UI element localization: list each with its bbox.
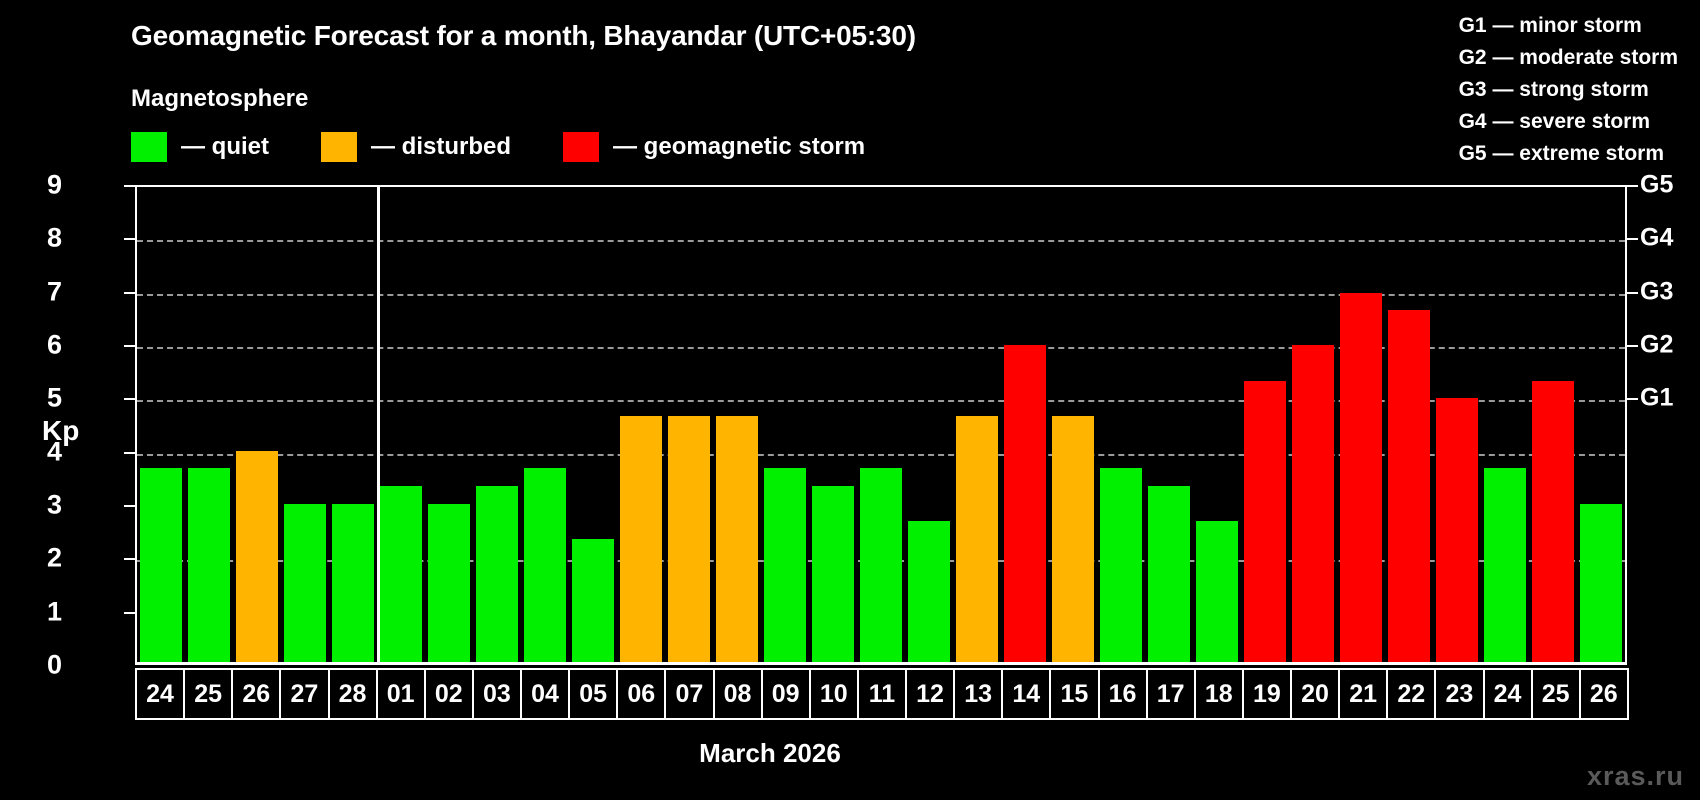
y-tick-label-2: 2 xyxy=(2,543,62,574)
bar-13-disturbed[interactable] xyxy=(956,416,997,662)
bar-15-disturbed[interactable] xyxy=(1052,416,1093,662)
bar-cell[interactable] xyxy=(1241,187,1289,662)
y-tick-mark-3 xyxy=(124,505,135,507)
bar-cell[interactable] xyxy=(377,187,425,662)
day-label-5: 01 xyxy=(376,668,426,720)
y-tick-label-3: 3 xyxy=(2,490,62,521)
chart-plot xyxy=(135,185,1627,665)
bar-26-quiet[interactable] xyxy=(1580,504,1621,662)
bar-cell[interactable] xyxy=(1097,187,1145,662)
day-label-24: 20 xyxy=(1290,668,1340,720)
day-label-12: 08 xyxy=(713,668,763,720)
bar-09-quiet[interactable] xyxy=(764,468,805,662)
y-tick-mark-7 xyxy=(124,292,135,294)
day-label-26: 22 xyxy=(1386,668,1436,720)
bar-25-geomagnetic-storm[interactable] xyxy=(1532,381,1573,662)
bar-08-disturbed[interactable] xyxy=(716,416,757,662)
g-tick-mark-g5 xyxy=(1627,185,1638,187)
bar-19-geomagnetic-storm[interactable] xyxy=(1244,381,1285,662)
bar-cell[interactable] xyxy=(1337,187,1385,662)
bar-cell[interactable] xyxy=(233,187,281,662)
forecast-divider xyxy=(377,187,380,662)
y-tick-mark-5 xyxy=(124,398,135,400)
bar-cell[interactable] xyxy=(953,187,1001,662)
g-tick-label-g4: G4 xyxy=(1640,224,1673,253)
bar-18-quiet[interactable] xyxy=(1196,521,1237,662)
day-label-6: 02 xyxy=(424,668,474,720)
bar-05-quiet[interactable] xyxy=(572,539,613,662)
bar-cell[interactable] xyxy=(137,187,185,662)
y-tick-mark-1 xyxy=(124,612,135,614)
day-label-4: 28 xyxy=(328,668,378,720)
day-label-15: 11 xyxy=(857,668,907,720)
bar-cell[interactable] xyxy=(1049,187,1097,662)
bar-16-quiet[interactable] xyxy=(1100,468,1141,662)
day-label-11: 07 xyxy=(664,668,714,720)
day-label-30: 26 xyxy=(1579,668,1629,720)
day-label-3: 27 xyxy=(279,668,329,720)
bar-23-geomagnetic-storm[interactable] xyxy=(1436,398,1477,662)
bar-cell[interactable] xyxy=(185,187,233,662)
y-tick-label-8: 8 xyxy=(2,223,62,254)
x-axis-day-labels: 2425262728010203040506070809101112131415… xyxy=(135,668,1627,720)
bar-02-quiet[interactable] xyxy=(428,504,469,662)
day-label-2: 26 xyxy=(231,668,281,720)
y-tick-label-6: 6 xyxy=(2,330,62,361)
bar-cell[interactable] xyxy=(1193,187,1241,662)
bar-01-quiet[interactable] xyxy=(380,486,421,662)
bar-cell[interactable] xyxy=(1481,187,1529,662)
day-label-20: 16 xyxy=(1098,668,1148,720)
day-label-28: 24 xyxy=(1483,668,1533,720)
y-tick-label-0: 0 xyxy=(2,650,62,681)
day-label-14: 10 xyxy=(809,668,859,720)
bar-10-quiet[interactable] xyxy=(812,486,853,662)
day-label-29: 25 xyxy=(1531,668,1581,720)
day-label-25: 21 xyxy=(1338,668,1388,720)
g-tick-label-g5: G5 xyxy=(1640,171,1673,200)
bar-20-geomagnetic-storm[interactable] xyxy=(1292,345,1333,662)
bar-27-quiet[interactable] xyxy=(284,504,325,662)
y-tick-label-5: 5 xyxy=(2,383,62,414)
bar-17-quiet[interactable] xyxy=(1148,486,1189,662)
bar-11-quiet[interactable] xyxy=(860,468,901,662)
bar-cell[interactable] xyxy=(809,187,857,662)
day-label-7: 03 xyxy=(472,668,522,720)
g-tick-label-g3: G3 xyxy=(1640,277,1673,306)
plot-area: Kp 0123456789 G1G2G3G4G5 242526272801020… xyxy=(0,0,1700,800)
bar-cell[interactable] xyxy=(569,187,617,662)
bar-cell[interactable] xyxy=(665,187,713,662)
g-tick-mark-g1 xyxy=(1627,398,1638,400)
y-tick-mark-4 xyxy=(124,452,135,454)
bar-06-disturbed[interactable] xyxy=(620,416,661,662)
day-label-23: 19 xyxy=(1242,668,1292,720)
y-tick-label-1: 1 xyxy=(2,596,62,627)
bar-cell[interactable] xyxy=(905,187,953,662)
bar-cell[interactable] xyxy=(1385,187,1433,662)
bar-cell[interactable] xyxy=(713,187,761,662)
y-tick-mark-2 xyxy=(124,558,135,560)
bar-24-quiet[interactable] xyxy=(140,468,181,662)
bar-25-quiet[interactable] xyxy=(188,468,229,662)
bar-cell[interactable] xyxy=(1433,187,1481,662)
g-tick-label-g2: G2 xyxy=(1640,331,1673,360)
bar-24-quiet[interactable] xyxy=(1484,468,1525,662)
watermark: xras.ru xyxy=(1587,761,1684,792)
day-label-19: 15 xyxy=(1049,668,1099,720)
day-label-18: 14 xyxy=(1001,668,1051,720)
x-axis-title: March 2026 xyxy=(0,738,1700,769)
y-tick-label-7: 7 xyxy=(2,276,62,307)
day-label-9: 05 xyxy=(568,668,618,720)
bar-cell[interactable] xyxy=(1001,187,1049,662)
day-label-16: 12 xyxy=(905,668,955,720)
forecast-chart-page: Geomagnetic Forecast for a month, Bhayan… xyxy=(0,0,1700,800)
g-tick-mark-g3 xyxy=(1627,292,1638,294)
day-label-1: 25 xyxy=(183,668,233,720)
bar-cell[interactable] xyxy=(521,187,569,662)
bar-cell[interactable] xyxy=(1145,187,1193,662)
bar-04-quiet[interactable] xyxy=(524,468,565,662)
bar-cell[interactable] xyxy=(617,187,665,662)
bar-22-geomagnetic-storm[interactable] xyxy=(1388,310,1429,662)
g-tick-label-g1: G1 xyxy=(1640,384,1673,413)
day-label-17: 13 xyxy=(953,668,1003,720)
bar-cell[interactable] xyxy=(281,187,329,662)
y-tick-mark-6 xyxy=(124,345,135,347)
bar-28-quiet[interactable] xyxy=(332,504,373,662)
day-label-0: 24 xyxy=(135,668,185,720)
bar-12-quiet[interactable] xyxy=(908,521,949,662)
bar-cell[interactable] xyxy=(1577,187,1625,662)
bar-cell[interactable] xyxy=(425,187,473,662)
bar-14-geomagnetic-storm[interactable] xyxy=(1004,345,1045,662)
bar-07-disturbed[interactable] xyxy=(668,416,709,662)
day-label-13: 09 xyxy=(761,668,811,720)
bar-cell[interactable] xyxy=(857,187,905,662)
y-tick-mark-9 xyxy=(124,185,135,187)
bar-cell[interactable] xyxy=(329,187,377,662)
y-tick-label-4: 4 xyxy=(2,436,62,467)
bar-cell[interactable] xyxy=(473,187,521,662)
day-label-22: 18 xyxy=(1194,668,1244,720)
day-label-8: 04 xyxy=(520,668,570,720)
y-tick-mark-8 xyxy=(124,238,135,240)
day-label-27: 23 xyxy=(1434,668,1484,720)
bar-21-geomagnetic-storm[interactable] xyxy=(1340,293,1381,662)
g-tick-mark-g4 xyxy=(1627,238,1638,240)
day-label-10: 06 xyxy=(616,668,666,720)
day-label-21: 17 xyxy=(1146,668,1196,720)
bar-cell[interactable] xyxy=(761,187,809,662)
bar-cell[interactable] xyxy=(1529,187,1577,662)
bar-03-quiet[interactable] xyxy=(476,486,517,662)
bar-26-disturbed[interactable] xyxy=(236,451,277,662)
bar-series xyxy=(137,187,1625,662)
g-tick-mark-g2 xyxy=(1627,345,1638,347)
y-tick-label-9: 9 xyxy=(2,170,62,201)
bar-cell[interactable] xyxy=(1289,187,1337,662)
